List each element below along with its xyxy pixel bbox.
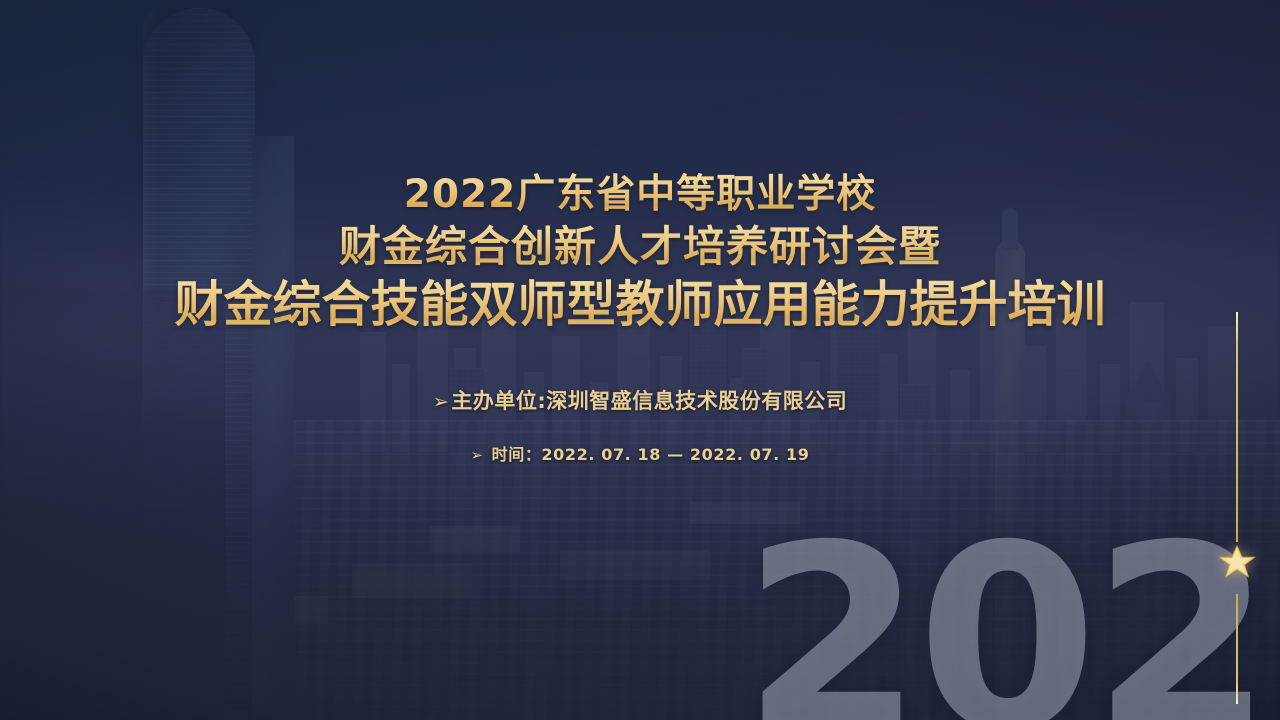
gold-rule-lower (1236, 594, 1238, 704)
title-slide: 2022 2022广东省中等职业学校 财金综合创新人才培养研讨会暨 财金综合技能… (0, 0, 1280, 720)
title-line-2: 财金综合创新人才培养研讨会暨 (0, 220, 1280, 274)
arrow-bullet-icon: ➢ (471, 447, 484, 464)
year-watermark: 2022 (742, 520, 1232, 720)
title-line-1: 2022广东省中等职业学校 (0, 170, 1280, 220)
right-decoration-group (1236, 312, 1238, 704)
organizer-line: ➢主办单位:深圳智盛信息技术股份有限公司 (0, 386, 1280, 417)
slide-subtitle-block: ➢主办单位:深圳智盛信息技术股份有限公司 ➢ 时间：2022. 07. 18 —… (0, 386, 1280, 468)
slide-title-block: 2022广东省中等职业学校 财金综合创新人才培养研讨会暨 财金综合技能双师型教师… (0, 170, 1280, 336)
title-line-3: 财金综合技能双师型教师应用能力提升培训 (0, 274, 1280, 336)
datetime-text: 时间：2022. 07. 18 — 2022. 07. 19 (492, 445, 810, 464)
datetime-line: ➢ 时间：2022. 07. 18 — 2022. 07. 19 (0, 443, 1280, 468)
arrow-bullet-icon: ➢ (433, 390, 450, 413)
six-point-star-icon (1217, 544, 1257, 584)
organizer-text: 主办单位:深圳智盛信息技术股份有限公司 (451, 389, 847, 413)
